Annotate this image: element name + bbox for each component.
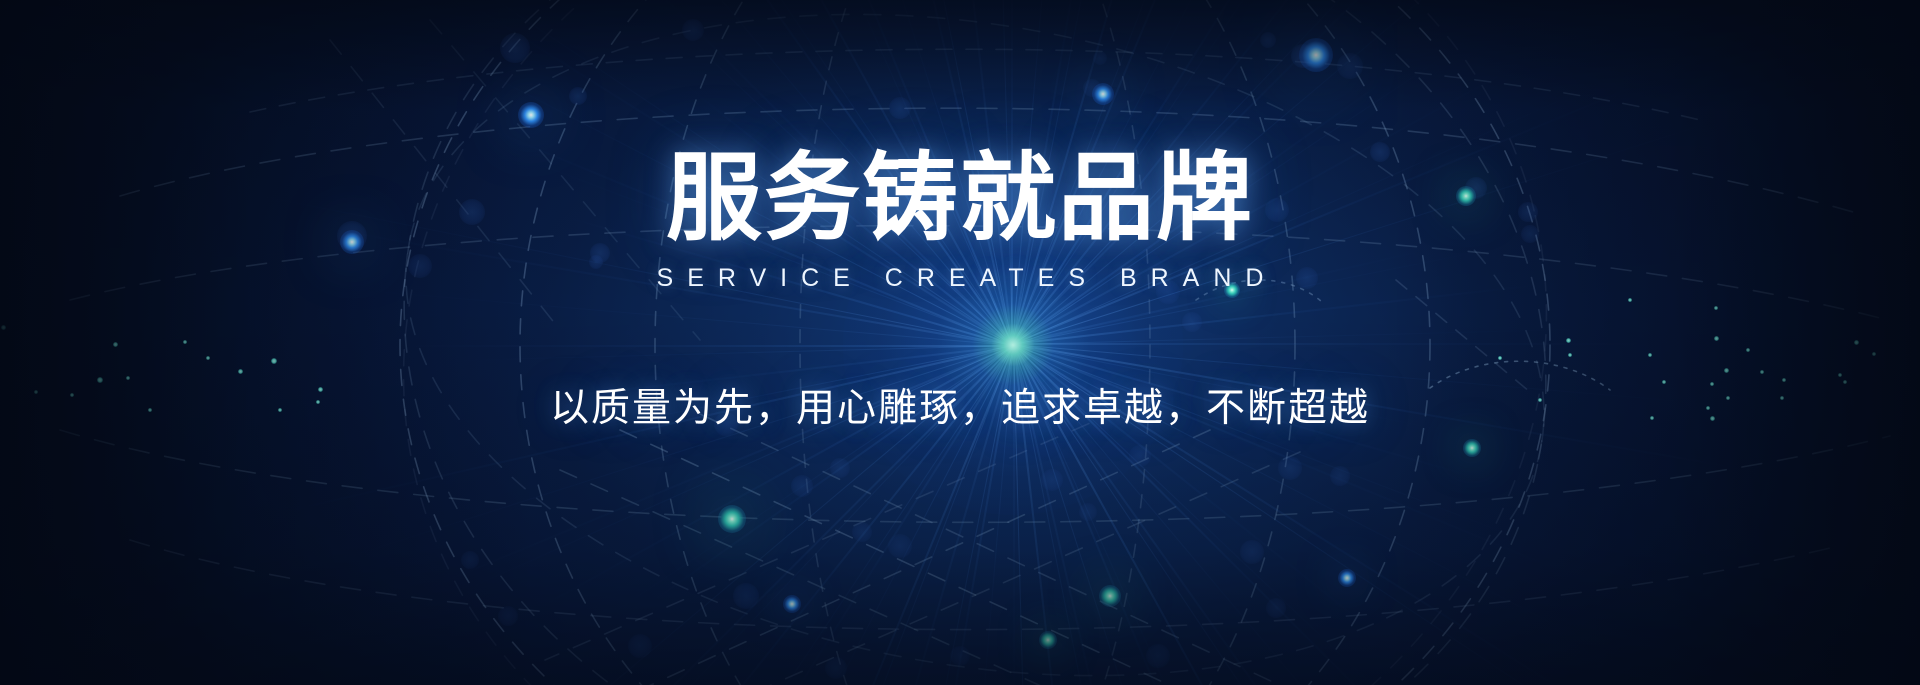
bokeh-circle <box>1129 445 1151 467</box>
glow-node <box>718 505 746 533</box>
bokeh-circle <box>628 634 652 658</box>
bokeh-circle <box>1260 32 1276 48</box>
bokeh-circle <box>1266 598 1286 618</box>
bokeh-circle <box>461 551 479 569</box>
page-title: 服务铸就品牌 <box>0 150 1920 248</box>
bokeh-circle <box>569 87 587 105</box>
bokeh-circle <box>1291 44 1315 68</box>
glow-node <box>1092 83 1114 105</box>
bokeh-circle <box>889 97 911 119</box>
bokeh-circle <box>791 475 813 497</box>
bokeh-circle <box>1083 79 1101 97</box>
bokeh-circle <box>500 33 530 63</box>
glow-node <box>1099 585 1121 607</box>
glow-node <box>1299 38 1333 72</box>
glow-node <box>1463 439 1481 457</box>
glow-node <box>1039 631 1057 649</box>
glow-node <box>518 102 544 128</box>
bokeh-circle <box>830 458 850 478</box>
glow-node <box>783 595 801 613</box>
bokeh-circle <box>1093 51 1107 65</box>
bokeh-circle <box>682 19 704 41</box>
bokeh-circle <box>1146 644 1170 668</box>
bokeh-circle <box>950 646 970 666</box>
banner-content: 服务铸就品牌 SERVICE CREATES BRAND 以质量为先，用心雕琢，… <box>0 150 1920 433</box>
bokeh-circle <box>733 583 759 609</box>
bokeh-circle <box>1337 53 1363 79</box>
bokeh-circle <box>1330 466 1350 486</box>
bokeh-circle <box>825 657 847 679</box>
bokeh-circle <box>888 534 912 558</box>
bokeh-circle <box>1240 540 1264 564</box>
glow-node <box>1338 569 1356 587</box>
tagline: 以质量为先，用心雕琢，追求卓越，不断超越 <box>0 377 1920 433</box>
bokeh-circle <box>1278 456 1302 480</box>
hero-banner: 服务铸就品牌 SERVICE CREATES BRAND 以质量为先，用心雕琢，… <box>0 0 1920 685</box>
bokeh-circle <box>852 522 872 542</box>
bokeh-circle <box>498 606 518 626</box>
bokeh-circle <box>1079 503 1097 521</box>
subtitle-latin: SERVICE CREATES BRAND <box>0 264 1920 293</box>
bokeh-circle <box>1041 469 1063 491</box>
